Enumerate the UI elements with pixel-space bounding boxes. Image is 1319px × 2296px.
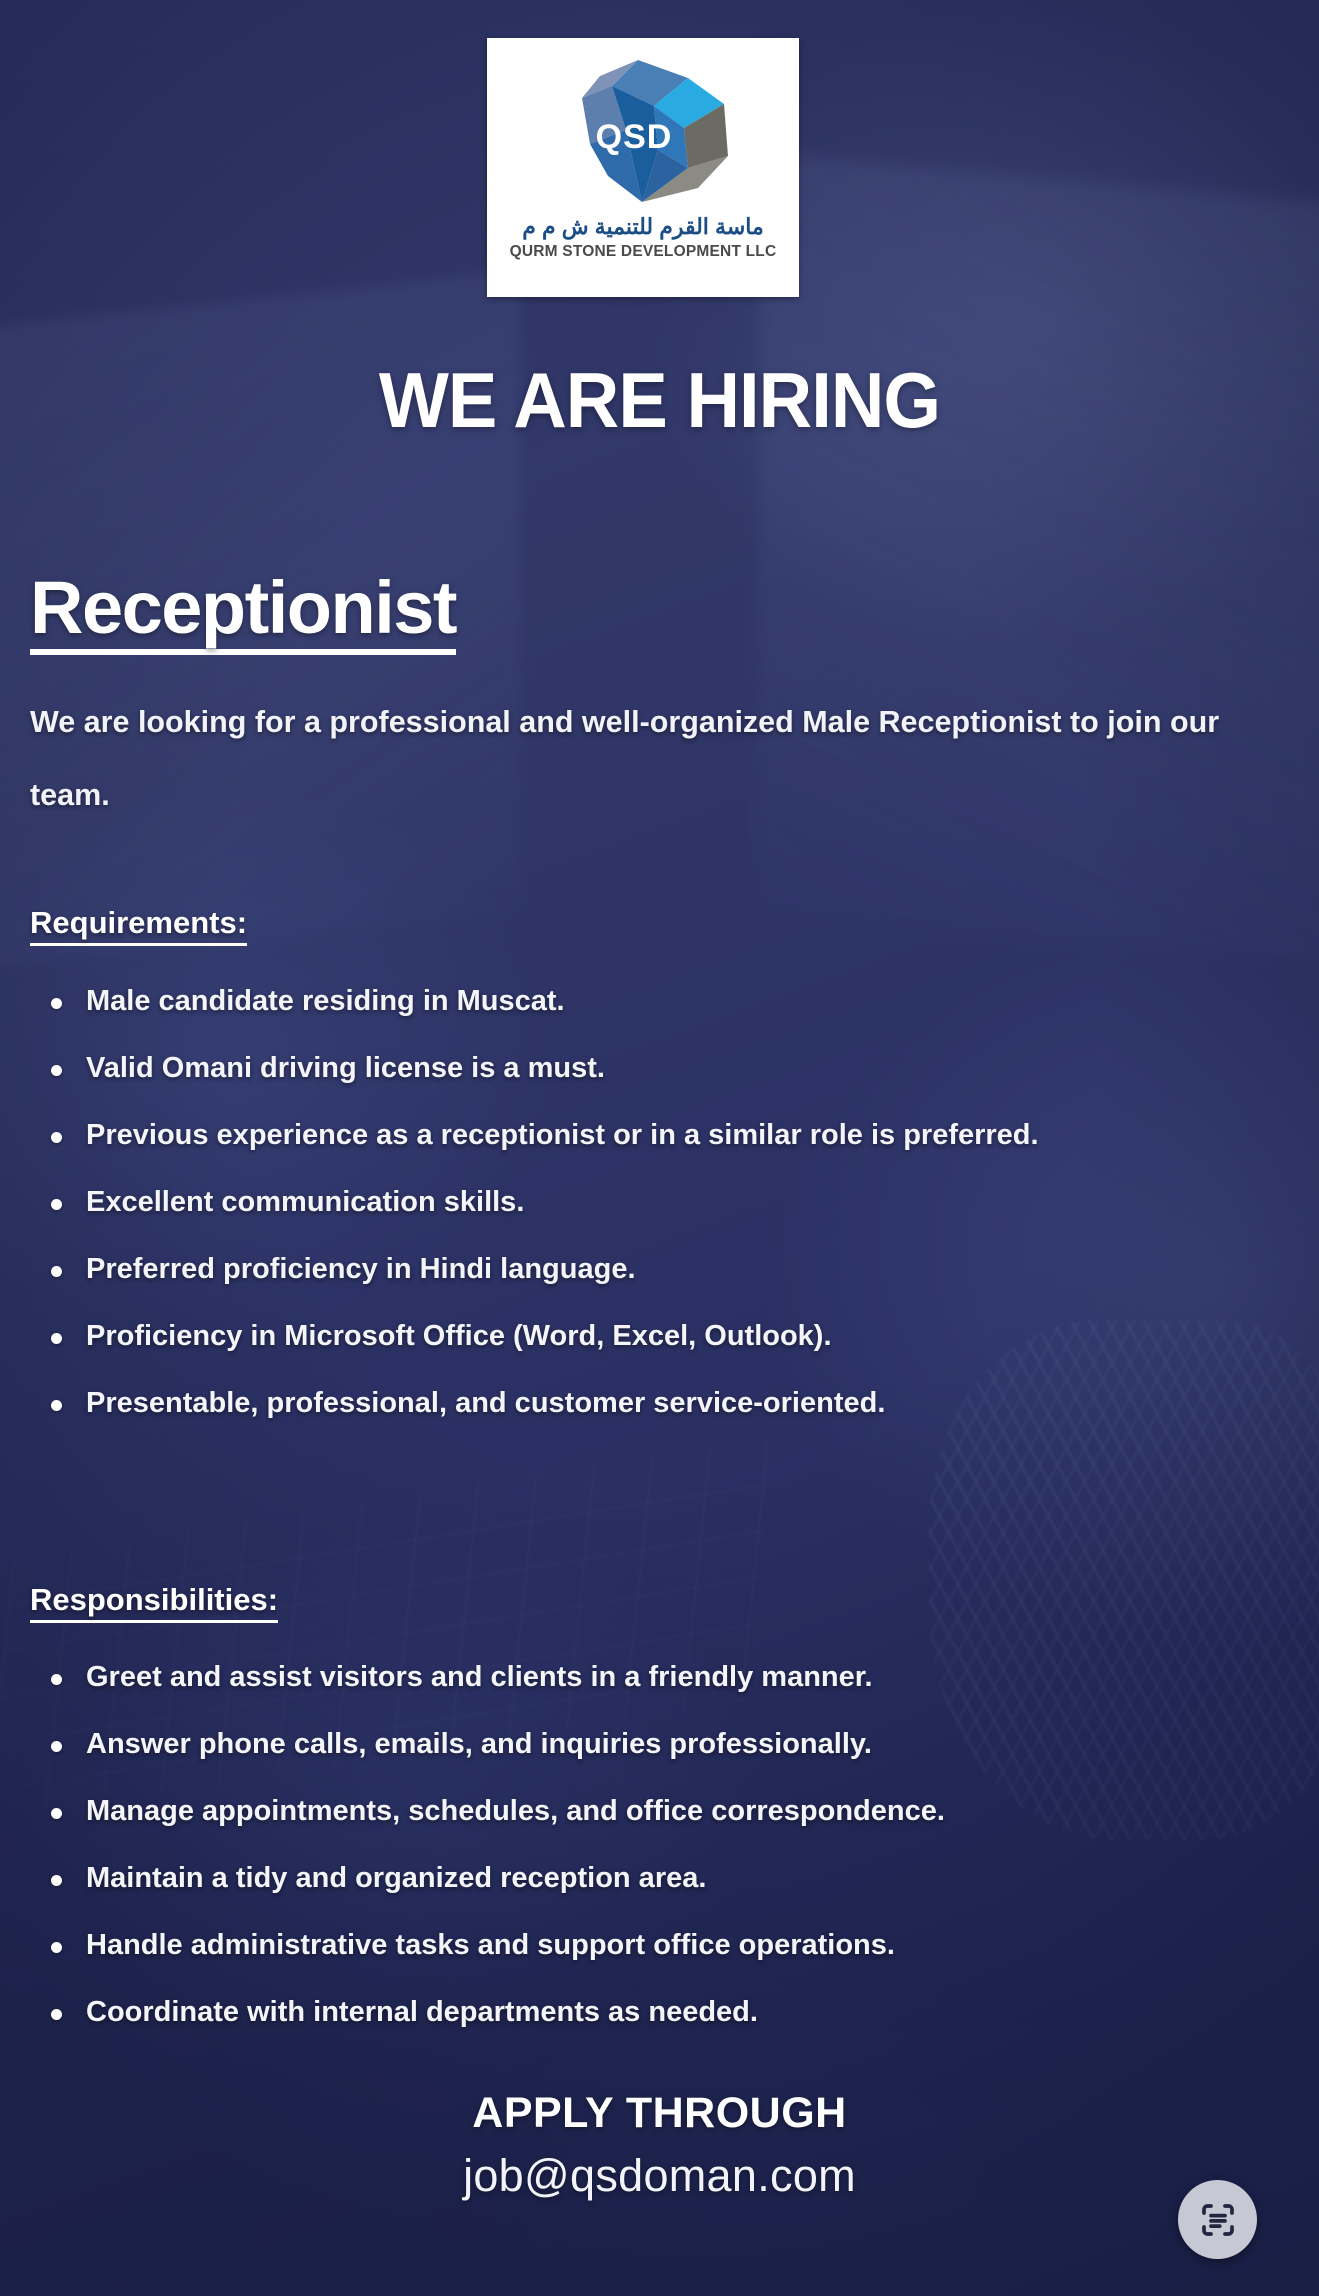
headline-we-are-hiring: WE ARE HIRING bbox=[33, 355, 1286, 446]
requirements-heading: Requirements: bbox=[30, 905, 247, 946]
list-item: Presentable, professional, and customer … bbox=[46, 1370, 1296, 1437]
background-monitor bbox=[759, 153, 1319, 967]
requirements-heading-text: Requirements: bbox=[30, 905, 247, 946]
job-title-text: Receptionist bbox=[30, 570, 456, 655]
apply-through-label: APPLY THROUGH bbox=[0, 2089, 1319, 2138]
list-item: Handle administrative tasks and support … bbox=[46, 1912, 1296, 1979]
responsibilities-heading-text: Responsibilities: bbox=[30, 1582, 278, 1623]
list-item: Manage appointments, schedules, and offi… bbox=[46, 1778, 1296, 1845]
job-title: Receptionist bbox=[30, 565, 456, 655]
responsibilities-heading: Responsibilities: bbox=[30, 1582, 278, 1623]
list-item: Valid Omani driving license is a must. bbox=[46, 1035, 1296, 1102]
logo-english-name: QURM STONE DEVELOPMENT LLC bbox=[510, 243, 777, 261]
logo-arabic-name: ماسة القرم للتنمية ش م م bbox=[522, 216, 764, 238]
requirements-list: Male candidate residing in Muscat. Valid… bbox=[46, 968, 1296, 1437]
list-item: Answer phone calls, emails, and inquirie… bbox=[46, 1711, 1296, 1778]
intro-paragraph: We are looking for a professional and we… bbox=[30, 686, 1260, 832]
list-item: Coordinate with internal departments as … bbox=[46, 1979, 1296, 2046]
svg-text:QSD: QSD bbox=[596, 118, 673, 156]
scan-text-icon bbox=[1197, 2199, 1239, 2241]
list-item: Preferred proficiency in Hindi language. bbox=[46, 1236, 1296, 1303]
apply-email-address[interactable]: job@qsdoman.com bbox=[0, 2150, 1319, 2202]
list-item: Maintain a tidy and organized reception … bbox=[46, 1845, 1296, 1912]
list-item: Previous experience as a receptionist or… bbox=[46, 1102, 1296, 1169]
list-item: Male candidate residing in Muscat. bbox=[46, 968, 1296, 1035]
company-logo-card: QSD ماسة القرم للتنمية ش م م QURM STONE … bbox=[487, 38, 799, 297]
list-item: Excellent communication skills. bbox=[46, 1169, 1296, 1236]
list-item: Proficiency in Microsoft Office (Word, E… bbox=[46, 1303, 1296, 1370]
responsibilities-list: Greet and assist visitors and clients in… bbox=[46, 1644, 1296, 2046]
qsd-gem-logo-icon: QSD bbox=[538, 52, 748, 220]
scan-text-fab[interactable] bbox=[1178, 2180, 1257, 2259]
job-poster: QSD ماسة القرم للتنمية ش م م QURM STONE … bbox=[0, 0, 1319, 2296]
list-item: Greet and assist visitors and clients in… bbox=[46, 1644, 1296, 1711]
